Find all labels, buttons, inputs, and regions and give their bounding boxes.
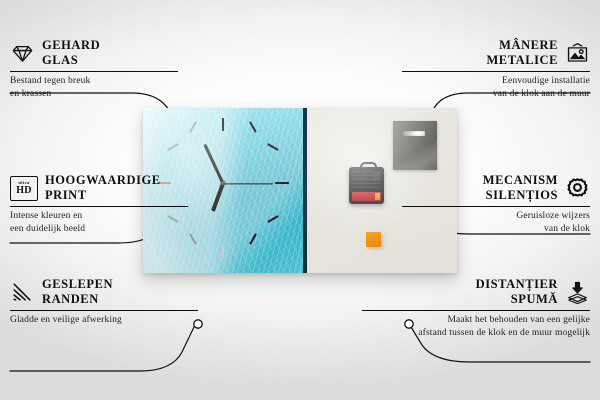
- feature-desc-line1: Geruisloze wijzers: [516, 211, 590, 221]
- feature-divider: [10, 310, 198, 311]
- feature-title-line1: MECANISM: [483, 173, 558, 187]
- infographic-canvas: GEHARD GLAS Bestand tegen breuk en krass…: [0, 0, 600, 400]
- feature-title: GESLEPEN RANDEN: [42, 277, 113, 308]
- feature-desc-line2: en krassen: [10, 89, 51, 99]
- clock-center-hub: [221, 181, 225, 185]
- clock-tick-12: [222, 118, 224, 131]
- feature-title-line1: DISTANȚIER: [476, 277, 558, 291]
- clock-tick-10: [167, 143, 178, 151]
- feature-title-line2: SPUMĂ: [476, 292, 558, 307]
- foam-spacer: [366, 232, 381, 247]
- clock-hour-hand: [211, 182, 225, 211]
- clock-tick-5: [249, 233, 257, 244]
- clock-second-hand: [223, 183, 273, 184]
- clock-tick-3: [275, 182, 289, 184]
- feature-title: HOOGWAARDIGE PRINT: [45, 173, 161, 204]
- picture-frame-icon: [565, 41, 590, 66]
- feature-hoogwaardige-print: ultra HD HOOGWAARDIGE PRINT Intense kleu…: [10, 173, 200, 236]
- feature-description: Geruisloze wijzers van de klok: [390, 210, 590, 236]
- feature-title: GEHARD GLAS: [42, 38, 100, 69]
- feature-description: Bestand tegen breuk en krassen: [10, 75, 190, 101]
- beveled-edges-icon: [10, 280, 35, 305]
- metal-hanger-plate: [393, 121, 437, 170]
- feature-desc-line2: van de klok: [544, 224, 590, 234]
- feature-divider: [402, 206, 590, 207]
- feature-title-line1: GESLEPEN: [42, 277, 113, 291]
- ultra-hd-icon: ultra HD: [10, 176, 38, 201]
- gear-icon: [565, 176, 590, 201]
- feature-title-line2: PRINT: [45, 188, 161, 203]
- clock-tick-11: [189, 121, 197, 132]
- feature-header: GESLEPEN RANDEN: [10, 277, 210, 308]
- feature-divider: [362, 310, 590, 311]
- feature-title-line1: GEHARD: [42, 38, 100, 52]
- feature-title-line2: METALICE: [486, 53, 558, 68]
- feature-desc-line1: Eenvoudige installatie: [502, 76, 590, 86]
- feature-title-line2: GLAS: [42, 53, 100, 68]
- feature-desc-line2: van de klok aan de muur: [493, 89, 590, 99]
- feature-divider: [402, 71, 590, 72]
- feature-mecanism-silentios: MECANISM SILENȚIOS Geruisloze wijzers va…: [390, 173, 590, 236]
- feature-header: ultra HD HOOGWAARDIGE PRINT: [10, 173, 200, 204]
- feature-title-line2: SILENȚIOS: [483, 188, 558, 203]
- feature-title: MÂNERE METALICE: [486, 38, 558, 69]
- feature-header: DISTANȚIER SPUMĂ: [350, 277, 590, 308]
- feature-title: MECANISM SILENȚIOS: [483, 173, 558, 204]
- feature-desc-line2: afstand tussen de klok en de muur mogeli…: [418, 328, 590, 338]
- feature-desc-line1: Maakt het behouden van een gelijke: [447, 315, 590, 325]
- mechanism-grill: [352, 171, 381, 188]
- feature-divider: [10, 71, 178, 72]
- feature-title: DISTANȚIER SPUMĂ: [476, 277, 558, 308]
- feature-title-line1: MÂNERE: [499, 38, 558, 52]
- feature-description: Maakt het behouden van een gelijke afsta…: [350, 314, 590, 340]
- battery: [352, 192, 381, 201]
- feature-geslepen-randen: GESLEPEN RANDEN Gladde en veilige afwerk…: [10, 277, 210, 327]
- feature-distantier-spuma: DISTANȚIER SPUMĂ Maakt het behouden van …: [350, 277, 590, 340]
- feature-divider: [10, 206, 188, 207]
- feature-title-line1: HOOGWAARDIGE: [45, 173, 161, 187]
- clock-tick-4: [267, 215, 278, 223]
- clock-mechanism-box: [349, 167, 384, 204]
- feature-header: MECANISM SILENȚIOS: [390, 173, 590, 204]
- diamond-icon: [10, 41, 35, 66]
- feature-description: Gladde en veilige afwerking: [10, 314, 210, 327]
- feature-description: Eenvoudige installatie van de klok aan d…: [390, 75, 590, 101]
- feature-gehard-glas: GEHARD GLAS Bestand tegen breuk en krass…: [10, 38, 190, 101]
- clock-minute-hand: [203, 144, 224, 184]
- feature-header: MÂNERE METALICE: [390, 38, 590, 69]
- mechanism-chip: [373, 171, 380, 181]
- feature-header: GEHARD GLAS: [10, 38, 190, 69]
- feature-desc-line1: Bestand tegen breuk: [10, 76, 90, 86]
- feature-description: Intense kleuren en een duidelijk beeld: [10, 210, 200, 236]
- clock-tick-6: [222, 245, 224, 258]
- feature-desc-line1: Gladde en veilige afwerking: [10, 315, 122, 325]
- ultra-hd-icon-main-text: HD: [16, 186, 31, 196]
- clock-tick-2: [267, 143, 278, 151]
- spacer-stack-icon: [565, 280, 590, 305]
- hanger-slot: [403, 131, 425, 136]
- feature-desc-line1: Intense kleuren en: [10, 211, 82, 221]
- clock-tick-1: [249, 121, 257, 132]
- feature-title-line2: RANDEN: [42, 292, 113, 307]
- feature-desc-line2: een duidelijk beeld: [10, 224, 85, 234]
- feature-manere-metalice: MÂNERE METALICE Eenvoudige installatie v…: [390, 38, 590, 101]
- connector-line-geslepen-randen: [10, 327, 194, 371]
- mechanism-hanging-loop: [360, 162, 377, 172]
